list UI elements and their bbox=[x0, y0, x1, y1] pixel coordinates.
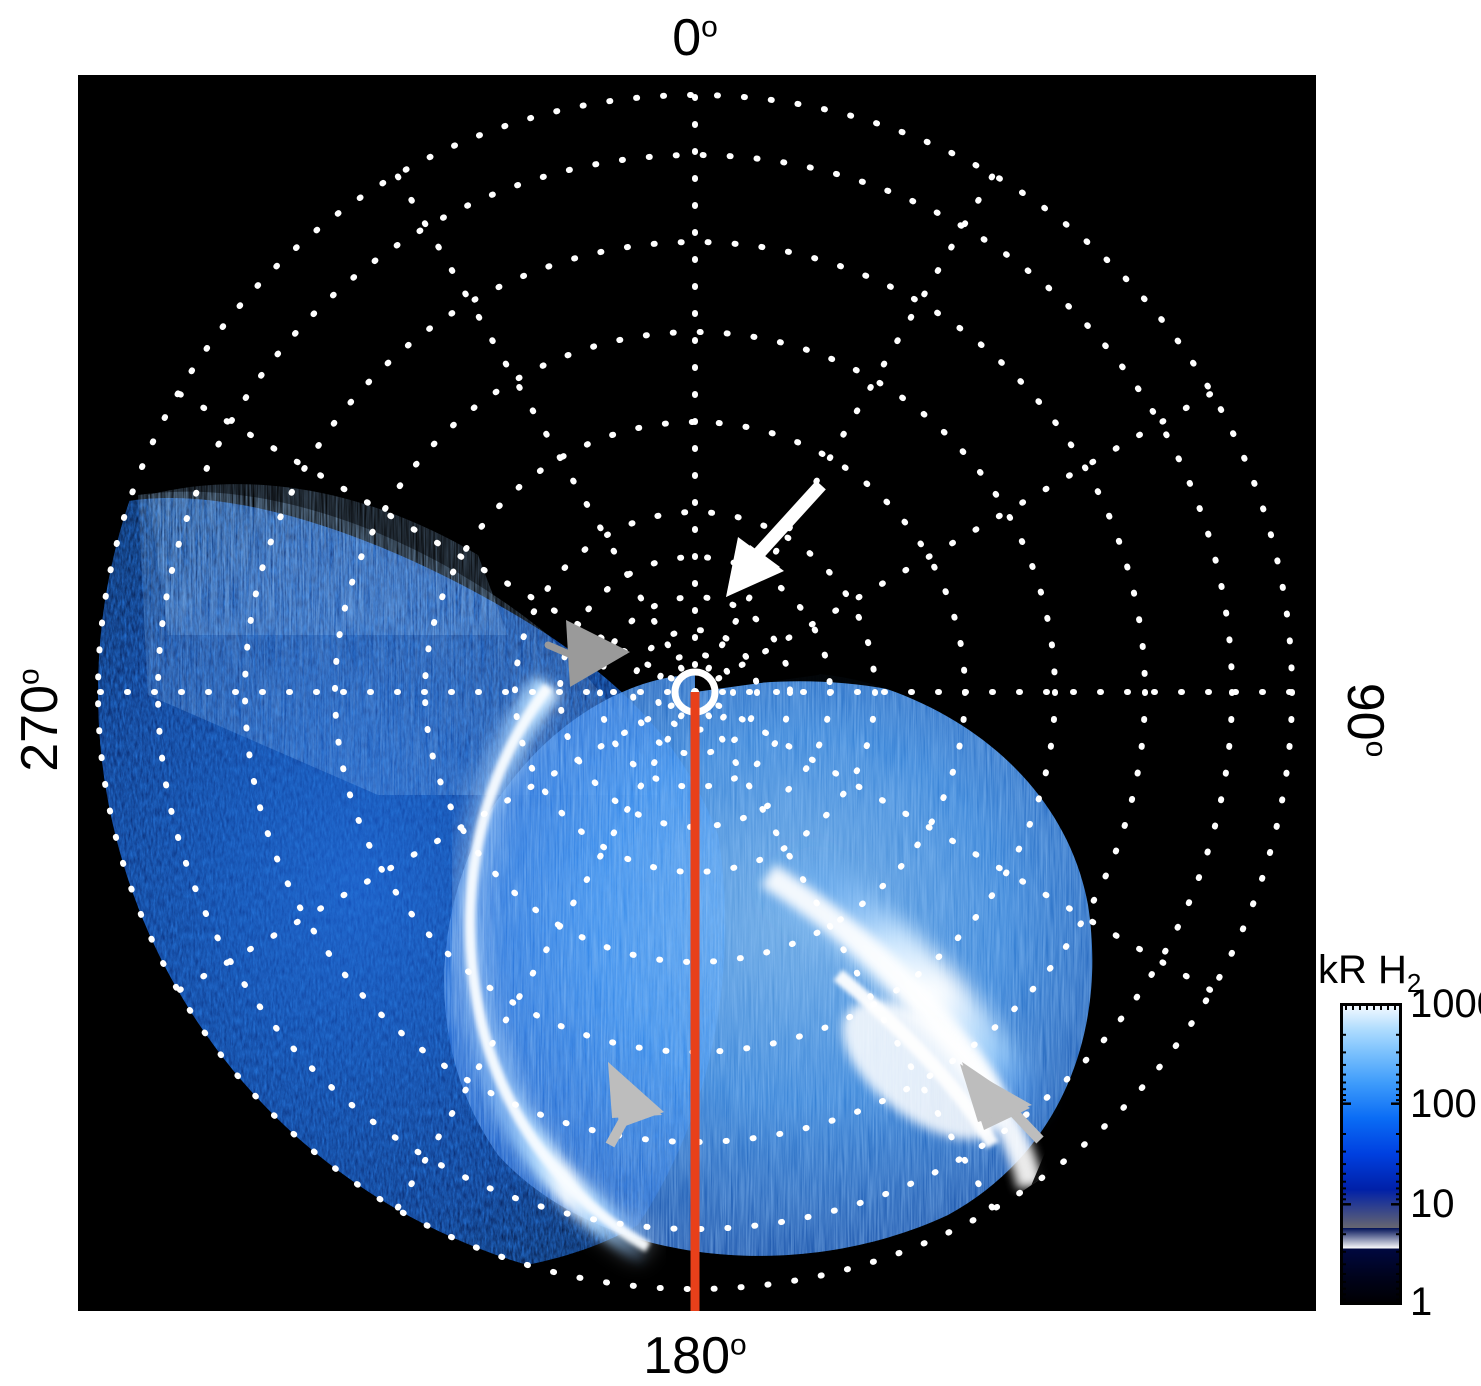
polar-plot-svg bbox=[78, 75, 1316, 1311]
colorbar-title: kR H2 bbox=[1318, 948, 1421, 993]
figure-root: 0o 180o 270o 90o bbox=[0, 0, 1481, 1386]
axis-label-90-degrees: 90o bbox=[1339, 620, 1391, 820]
colorbar-tick-label-10: 10 bbox=[1410, 1184, 1455, 1224]
axis-label-270-degrees: 270o bbox=[14, 620, 66, 820]
aurora-emission-data bbox=[94, 75, 1316, 1311]
colorbar-tick-label-1: 1 bbox=[1410, 1282, 1432, 1322]
colorbar-tick-label-100: 100 bbox=[1410, 1084, 1477, 1124]
limb-streaks bbox=[148, 484, 508, 635]
axis-label-180-degrees: 180o bbox=[0, 1330, 1390, 1382]
axis-label-0-degrees: 0o bbox=[0, 12, 1390, 64]
colorbar-tick-label-1000: 1000 bbox=[1410, 984, 1481, 1024]
polar-plot-panel bbox=[78, 75, 1316, 1311]
colorbar-ticks bbox=[1340, 1003, 1402, 1305]
